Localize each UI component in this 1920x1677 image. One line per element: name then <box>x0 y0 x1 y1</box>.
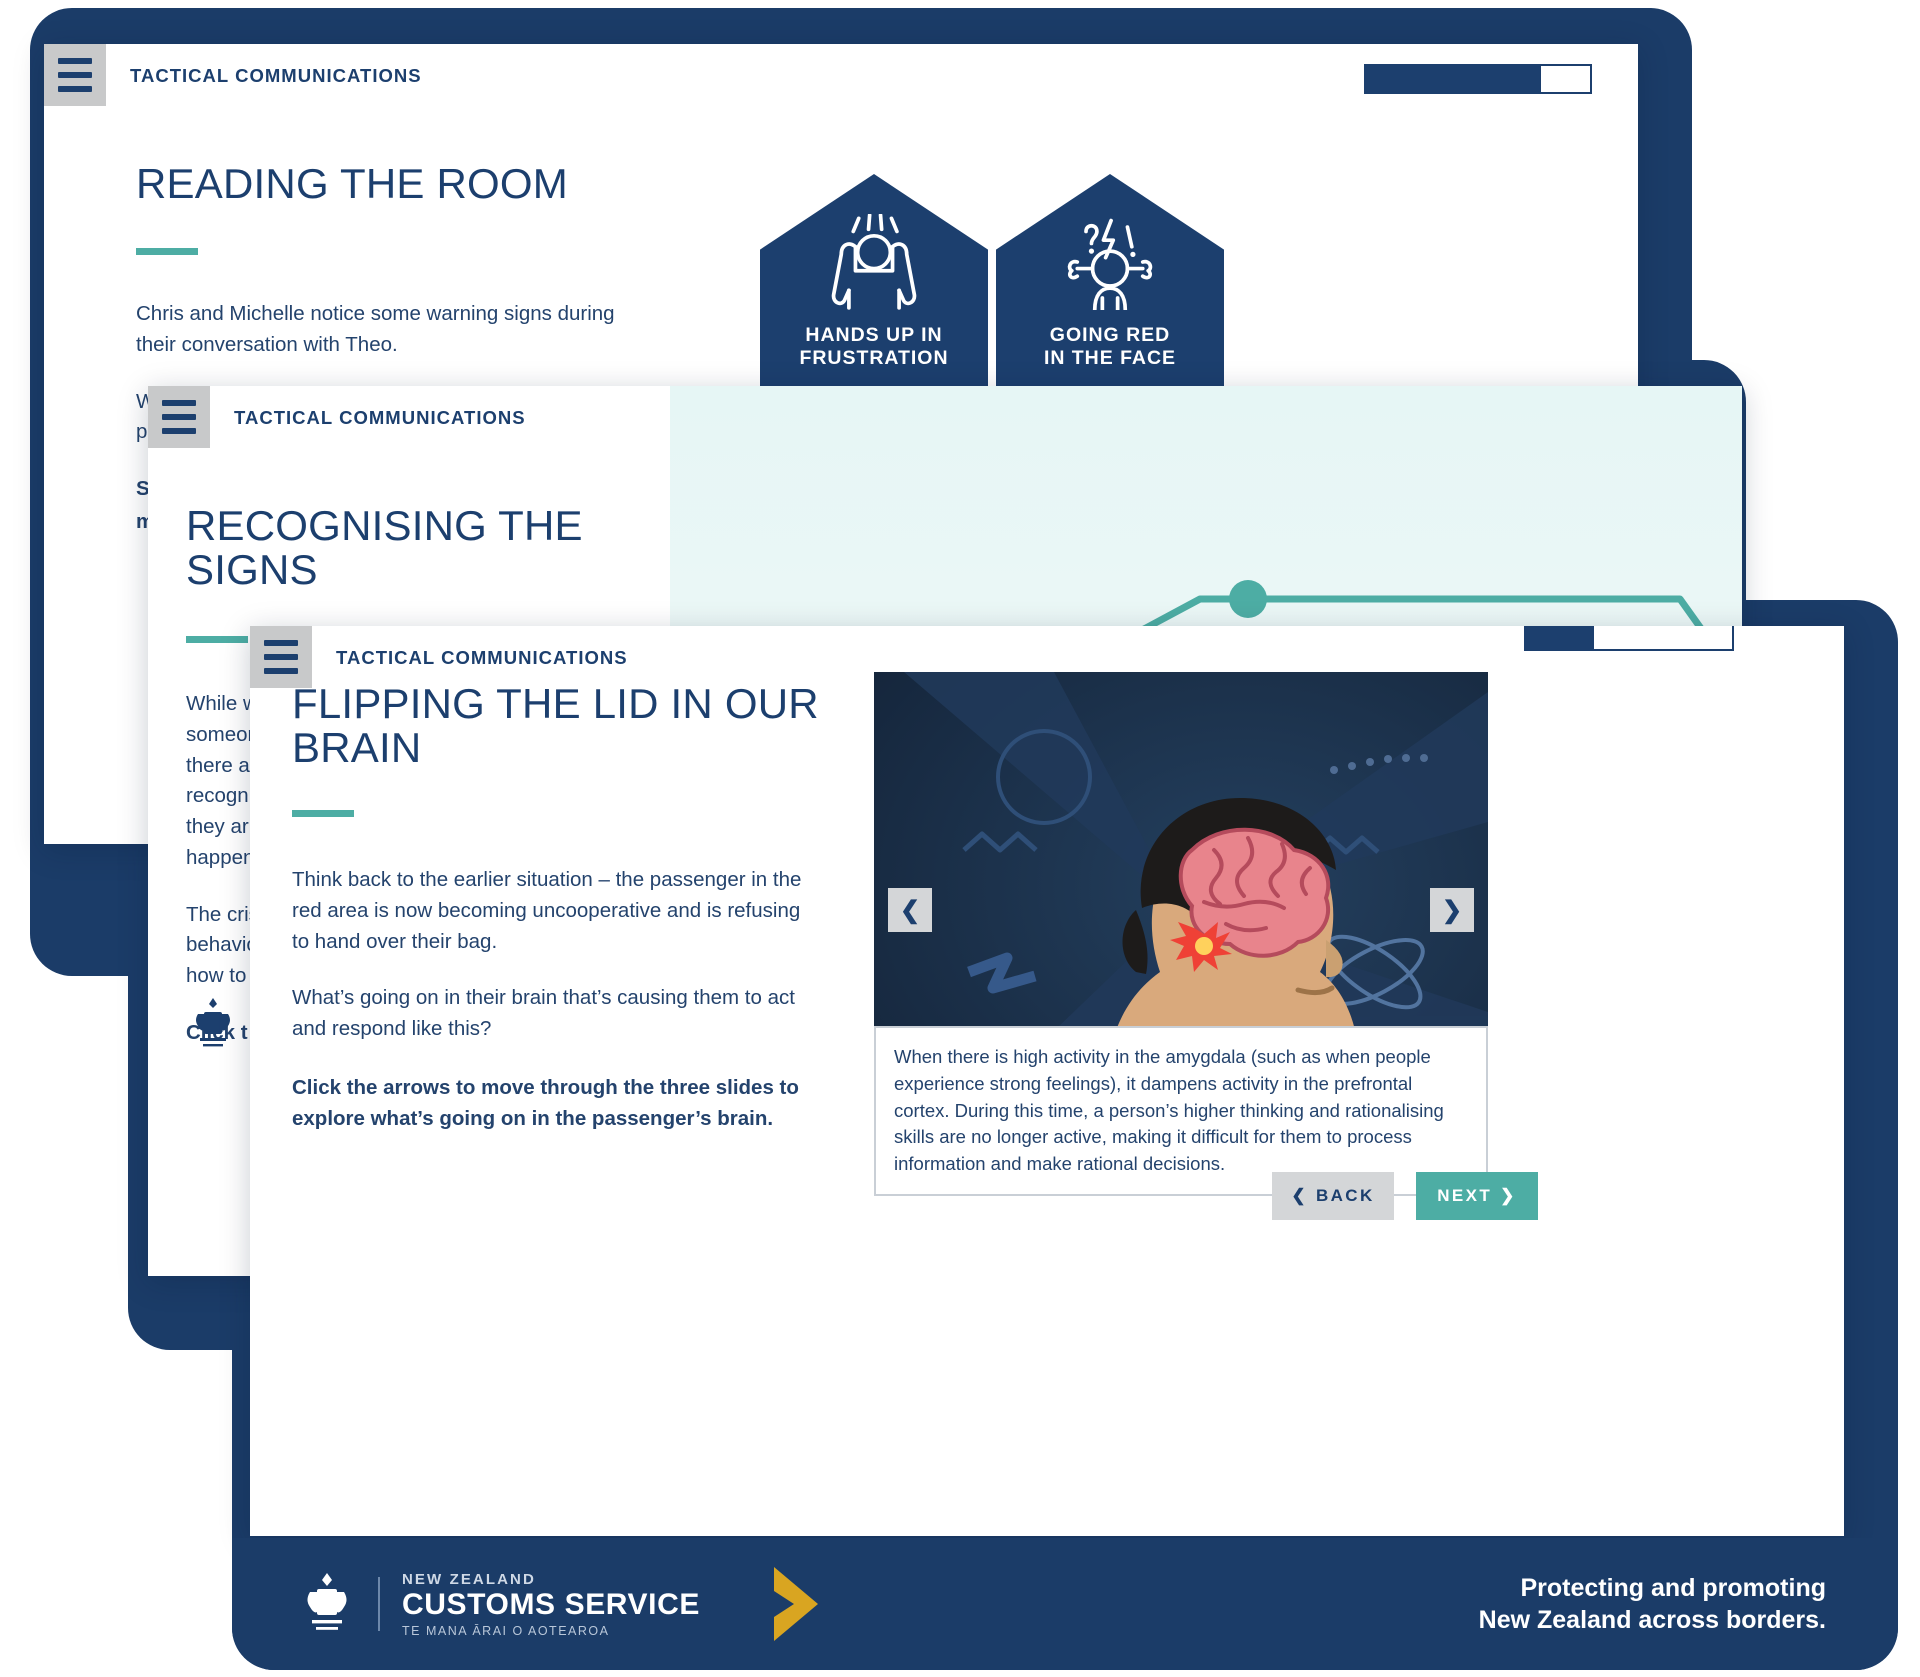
footer-logo-line-2: CUSTOMS SERVICE <box>402 1588 700 1621</box>
card1-header: TACTICAL COMMUNICATIONS <box>44 44 1638 122</box>
footer-logo-line-1: NEW ZEALAND <box>402 1571 700 1588</box>
footer-brand-name: NEW ZEALAND CUSTOMS SERVICE TE MANA ĀRAI… <box>402 1571 700 1638</box>
chevron-right-icon: ❯ <box>1500 1186 1517 1206</box>
card3-text-column: FLIPPING THE LID IN OUR BRAIN Think back… <box>292 682 822 1134</box>
menu-icon[interactable] <box>148 386 210 448</box>
footer-logo-line-3: TE MANA ĀRAI O AOTEAROA <box>402 1624 700 1638</box>
carousel-next-button[interactable]: ❯ <box>1430 888 1474 932</box>
footer-tagline-line-1: Protecting and promoting <box>1479 1572 1826 1605</box>
card2-crest <box>190 996 236 1052</box>
menu-icon[interactable] <box>44 44 106 106</box>
back-button-label: BACK <box>1316 1186 1375 1206</box>
card3-prompt: Click the arrows to move through the thr… <box>292 1073 822 1135</box>
card1-title: READING THE ROOM <box>136 162 636 206</box>
card3-accent-rule <box>292 810 354 817</box>
card3-paragraph-2: What’s going on in their brain that’s ca… <box>292 983 822 1045</box>
nz-crest-icon <box>298 1571 356 1637</box>
chevron-left-icon: ❮ <box>1291 1186 1308 1206</box>
next-button-label: NEXT <box>1437 1186 1492 1206</box>
card1-progress-bar <box>1364 64 1592 94</box>
chart-point-acting-out <box>1229 580 1267 618</box>
chevron-right-icon: ❯ <box>1442 896 1462 925</box>
gold-chevron-icon <box>766 1565 836 1643</box>
card1-progress-fill <box>1366 66 1541 92</box>
next-button[interactable]: NEXT ❯ <box>1416 1172 1538 1220</box>
page-footer: NEW ZEALAND CUSTOMS SERVICE TE MANA ĀRAI… <box>232 1538 1898 1670</box>
footer-tagline: Protecting and promoting New Zealand acr… <box>1479 1572 1826 1637</box>
card3-progress-fill <box>1526 626 1594 649</box>
carousel-prev-button[interactable]: ❮ <box>888 888 932 932</box>
card3-progress-bar <box>1524 626 1734 651</box>
card1-paragraph-1: Chris and Michelle notice some warning s… <box>136 299 636 361</box>
hands-up-frustration-icon <box>819 214 929 310</box>
card3-caption-text: When there is high activity in the amygd… <box>894 1044 1468 1178</box>
card2-accent-rule <box>186 636 248 643</box>
card2-title: RECOGNISING THE SIGNS <box>186 504 616 592</box>
card1-module-label: TACTICAL COMMUNICATIONS <box>130 65 422 87</box>
slide-card-flipping-the-lid: TACTICAL COMMUNICATIONS FLIPPING THE LID… <box>250 626 1844 1536</box>
footer-tagline-line-2: New Zealand across borders. <box>1479 1604 1826 1637</box>
card3-title: FLIPPING THE LID IN OUR BRAIN <box>292 682 822 770</box>
back-button[interactable]: ❮ BACK <box>1272 1172 1394 1220</box>
going-red-face-icon <box>1055 214 1165 310</box>
card3-module-label: TACTICAL COMMUNICATIONS <box>336 647 628 669</box>
hexagon-caption-2: GOING REDIN THE FACE <box>1044 324 1176 370</box>
menu-icon[interactable] <box>250 626 312 688</box>
card3-paragraph-1: Think back to the earlier situation – th… <box>292 865 822 957</box>
footer-divider <box>378 1577 380 1631</box>
chevron-left-icon: ❮ <box>900 896 920 925</box>
nz-crest-icon <box>190 996 236 1052</box>
footer-logo: NEW ZEALAND CUSTOMS SERVICE TE MANA ĀRAI… <box>298 1565 836 1643</box>
screenshot-root: TACTICAL COMMUNICATIONS READING THE ROOM… <box>0 0 1920 1677</box>
card1-accent-rule <box>136 248 198 255</box>
card2-module-label: TACTICAL COMMUNICATIONS <box>234 407 526 429</box>
hexagon-caption-1: HANDS UP INFRUSTRATION <box>799 324 948 370</box>
card3-caption-box: When there is high activity in the amygd… <box>874 1026 1488 1196</box>
